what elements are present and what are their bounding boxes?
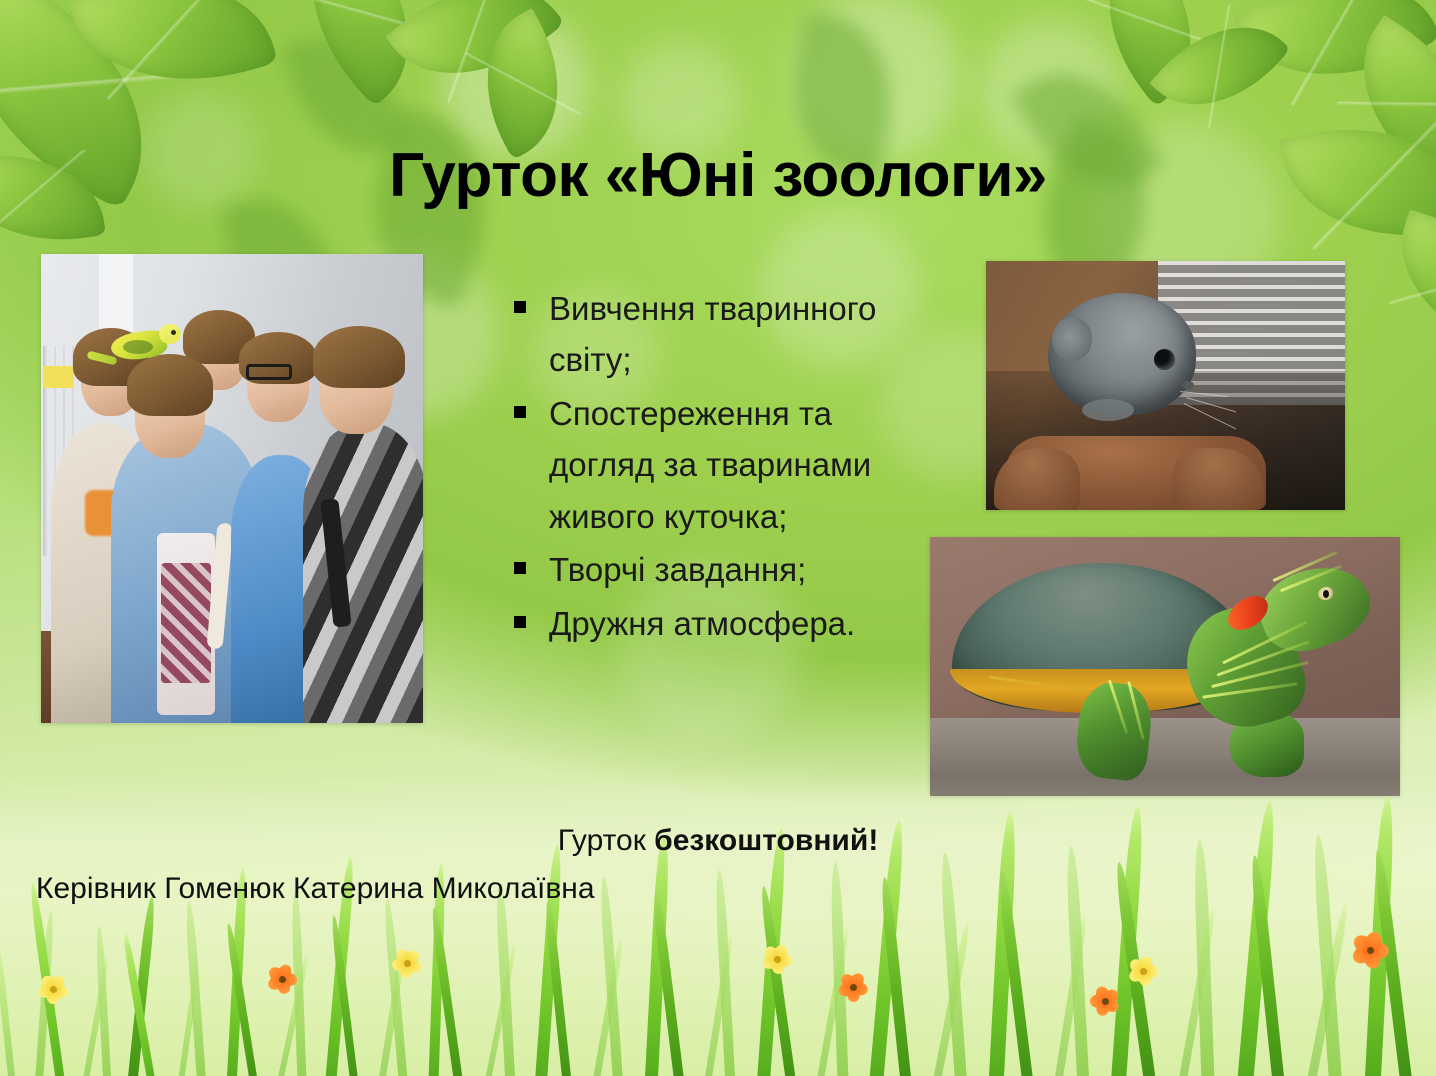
bullet-square-icon [514, 301, 526, 313]
list-item-label: Вивчення тваринного світу; [549, 290, 876, 378]
flower-icon-orange [1348, 928, 1392, 972]
list-item: Вивчення тваринного світу; [505, 283, 915, 386]
flower-icon-yellow [1126, 954, 1160, 988]
list-item-label: Спостереження та догляд за тваринами жив… [549, 395, 871, 535]
list-item: Творчі завдання; [505, 544, 915, 595]
flower-icon-orange [265, 962, 299, 996]
chinchilla-eye [1154, 349, 1175, 370]
free-note-strong: безкоштовний! [654, 824, 878, 857]
flower-icon-yellow [390, 946, 424, 980]
list-item: Дружня атмосфера. [505, 598, 915, 649]
flower-icon-orange [1088, 984, 1122, 1018]
grass-meadow-decoration [0, 776, 1436, 1076]
photo-children-with-budgerigar [41, 254, 423, 723]
photo-red-eared-slider-turtle [930, 537, 1400, 796]
free-club-note: Гурток безкоштовний! [0, 824, 1436, 858]
feature-bullet-list: Вивчення тваринного світу; Спостереження… [505, 283, 915, 651]
list-item: Спостереження та догляд за тваринами жив… [505, 388, 915, 542]
flower-icon-orange [836, 970, 870, 1004]
chinchilla-paw [1082, 399, 1134, 421]
chinchilla-ear [1052, 317, 1092, 361]
bullet-square-icon [514, 406, 526, 418]
presentation-slide: Гурток «Юні зоологи» [0, 0, 1436, 1076]
photo-chinchilla [986, 261, 1345, 510]
list-item-label: Творчі завдання; [549, 551, 806, 588]
glasses-icon [246, 364, 292, 380]
child-figure [303, 423, 423, 723]
bullet-square-icon [514, 562, 526, 574]
list-item-label: Дружня атмосфера. [549, 605, 855, 642]
flower-icon-yellow [36, 972, 70, 1006]
bullet-square-icon [514, 616, 526, 628]
club-leader-note: Керівник Гоменюк Катерина Миколаївна [36, 872, 595, 906]
free-note-prefix: Гурток [558, 824, 654, 857]
flower-icon-yellow [760, 942, 794, 976]
page-title: Гурток «Юні зоологи» [0, 140, 1436, 211]
